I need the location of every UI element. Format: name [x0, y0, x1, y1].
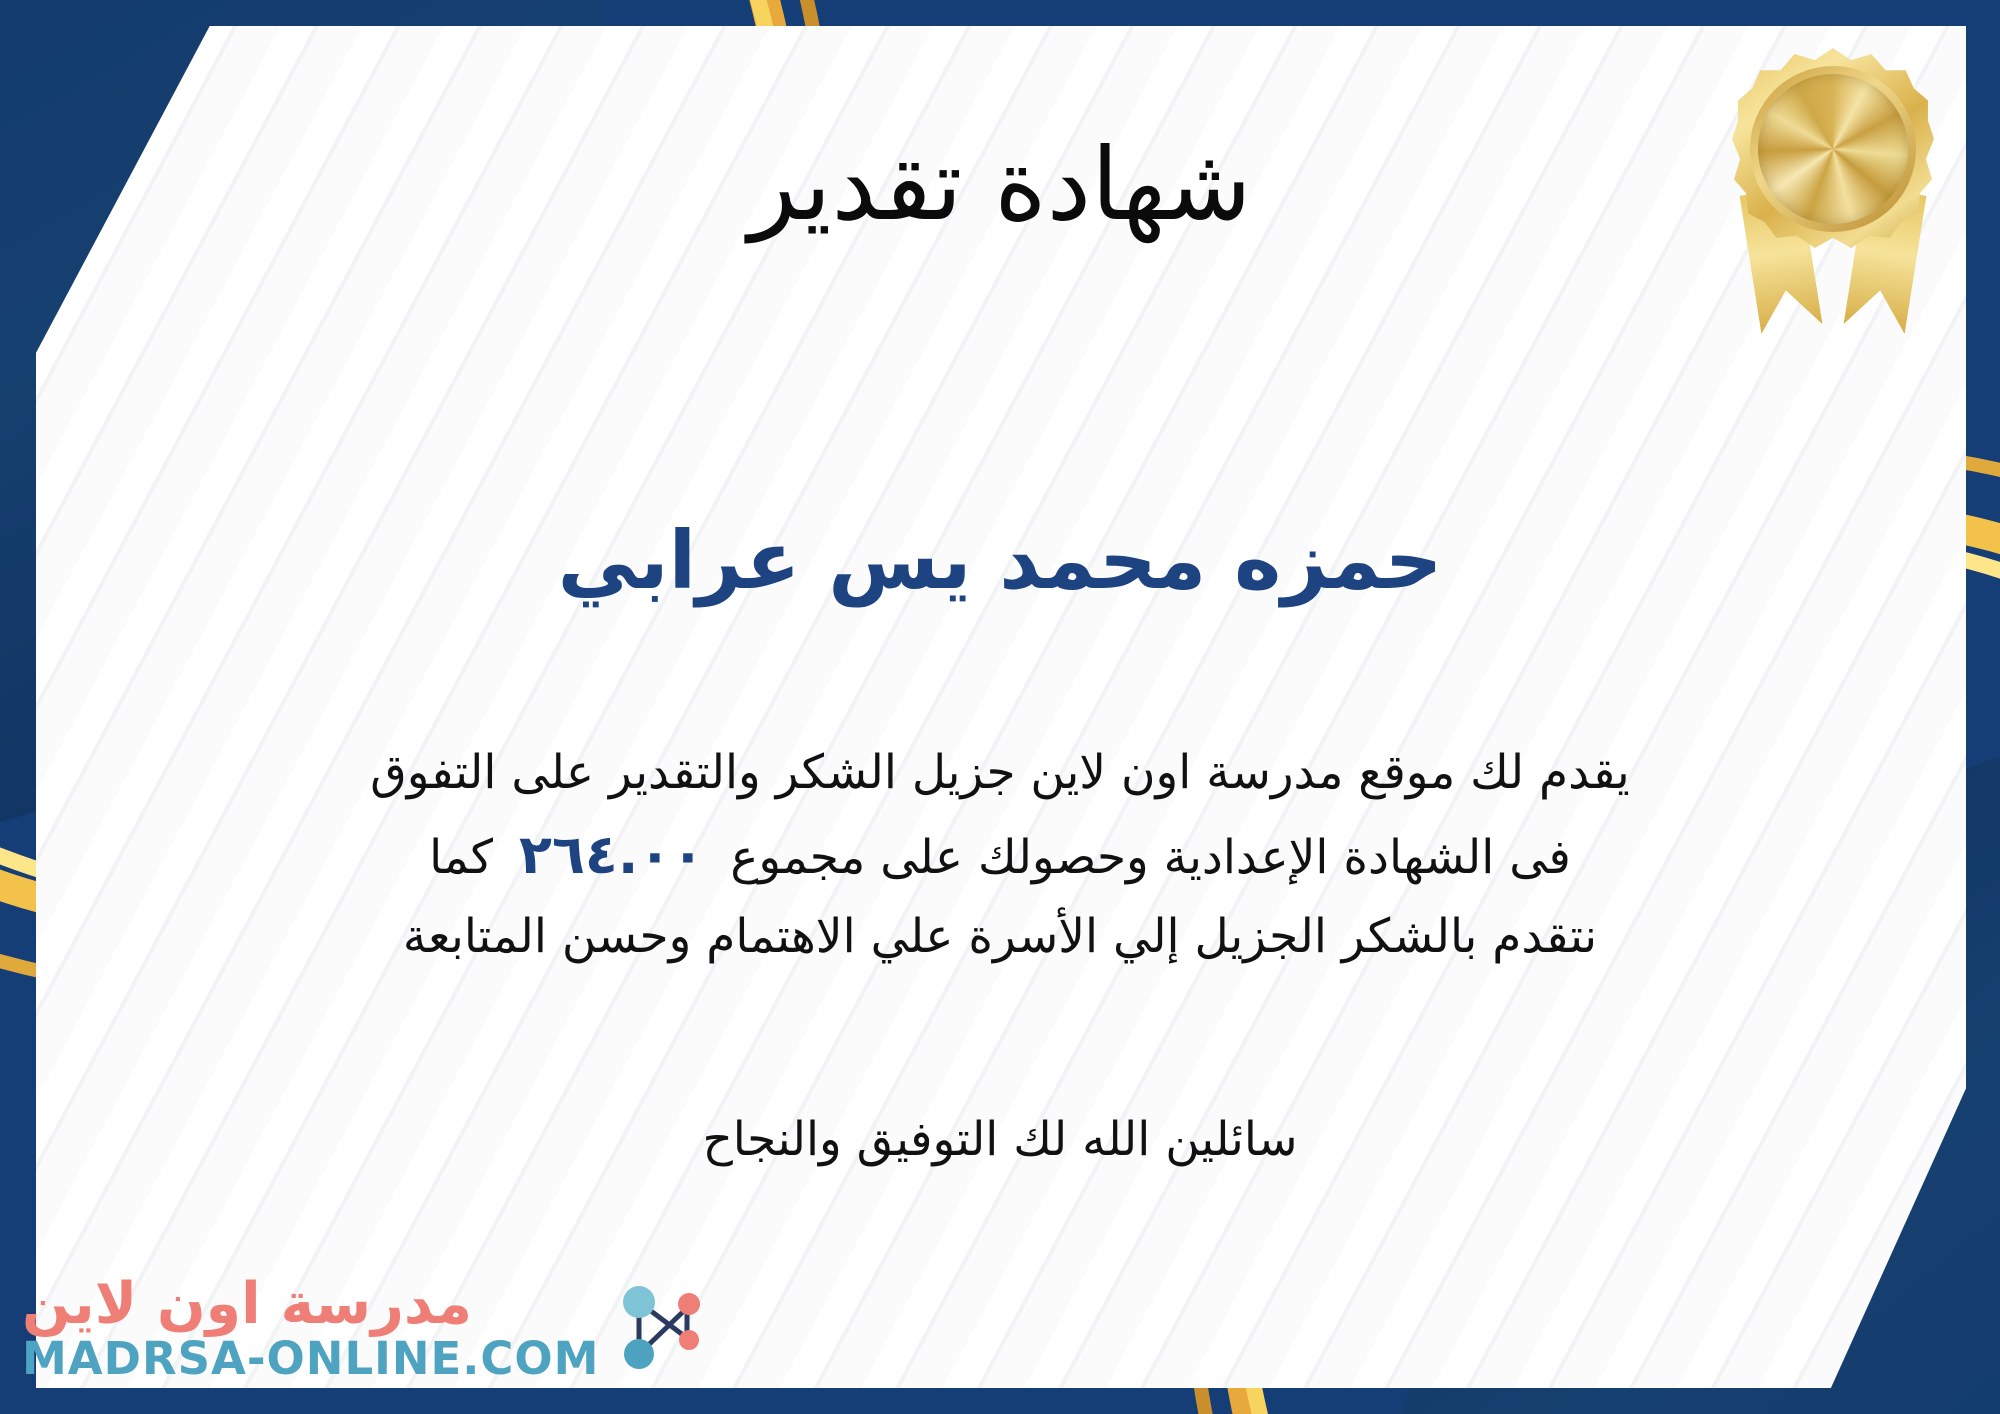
- body-line-2: فى الشهادة الإعدادية وحصولك على مجموع٢٦٤…: [60, 811, 1940, 898]
- gold-medal-icon: [1718, 40, 1948, 330]
- certificate-body: يقدم لك موقع مدرسة اون لاين جزيل الشكر و…: [60, 735, 1940, 975]
- body-line-3: نتقدم بالشكر الجزيل إلي الأسرة علي الاهت…: [60, 899, 1940, 975]
- body-line-2-prefix: فى الشهادة الإعدادية وحصولك على مجموع: [730, 830, 1571, 885]
- closing-wish-line: سائلين الله لك التوفيق والنجاح: [0, 1105, 2000, 1176]
- body-line-2-suffix: كما: [429, 830, 493, 885]
- body-line-1: يقدم لك موقع مدرسة اون لاين جزيل الشكر و…: [60, 735, 1940, 811]
- certificate-title: شهادة تقدير: [0, 130, 2000, 240]
- student-name: حمزه محمد يس عرابي: [0, 515, 2000, 607]
- grade-total-value: ٢٦٤.٠٠: [493, 823, 730, 886]
- certificate-content: شهادة تقدير حمزه محمد يس عرابي يقدم لك م…: [0, 0, 2000, 1414]
- brand-website: MADRSA-ONLINE.COM: [22, 1335, 599, 1382]
- brand-text-group: مدرسة اون لاين MADRSA-ONLINE.COM: [22, 1275, 599, 1382]
- medal-center-disc: [1758, 74, 1908, 224]
- brand-arabic-name: مدرسة اون لاين: [22, 1275, 472, 1335]
- certificate-page: شهادة تقدير حمزه محمد يس عرابي يقدم لك م…: [0, 0, 2000, 1414]
- brand-logo[interactable]: مدرسة اون لاين MADRSA-ONLINE.COM: [22, 1275, 709, 1382]
- network-nodes-icon: [613, 1276, 709, 1380]
